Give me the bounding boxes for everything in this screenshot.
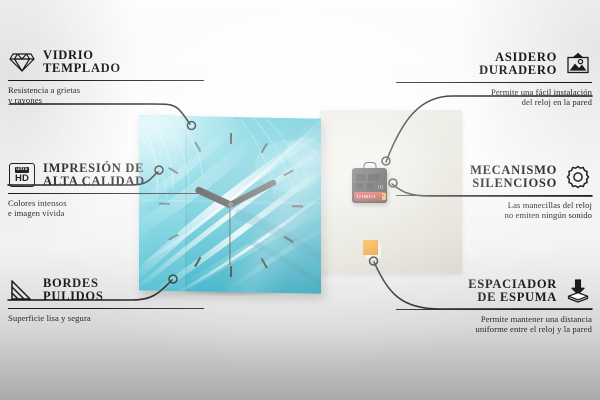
divider <box>396 195 592 196</box>
feature-description: Las manecillas del reloj no emiten ningú… <box>396 200 592 221</box>
feature-title: VIDRIO TEMPLADO <box>43 49 121 76</box>
feature-espaciador-de-espuma: ESPACIADOR DE ESPUMA Permite mantener un… <box>396 277 592 335</box>
ultra-hd-icon: ultra HD <box>8 161 36 189</box>
connector-endpoint-dot <box>370 257 378 265</box>
divider <box>396 309 592 310</box>
connector-vidrio-templado <box>10 104 190 124</box>
arrow-down-pad-icon <box>564 277 592 305</box>
feature-impresion-alta-calidad: ultra HD IMPRESIÓN DE ALTA CALIDAD Color… <box>8 161 204 219</box>
feature-vidrio-templado: VIDRIO TEMPLADO Resistencia a grietas y … <box>8 48 204 106</box>
feature-title: MECANISMO SILENCIOSO <box>470 164 557 191</box>
divider <box>8 193 204 194</box>
polished-edges-icon <box>8 276 36 304</box>
divider <box>8 308 204 309</box>
connector-endpoint-dot <box>188 122 196 130</box>
divider <box>396 82 592 83</box>
feature-description: Permite mantener una distancia uniforme … <box>396 314 592 335</box>
feature-title: BORDES PULIDOS <box>43 277 103 304</box>
gear-icon <box>564 163 592 191</box>
infographic-canvas: + <box>0 0 600 400</box>
ultra-hd-icon-large-label: HD <box>15 174 29 184</box>
diamond-icon <box>8 48 36 76</box>
feature-description: Resistencia a grietas y rayones <box>8 85 204 106</box>
picture-frame-hanger-icon <box>564 50 592 78</box>
ultra-hd-icon-small-label: ultra <box>15 167 30 173</box>
feature-asidero-duradero: ASIDERO DURADERO Permite una fácil insta… <box>396 50 592 108</box>
feature-description: Colores intensos e imagen vívida <box>8 198 204 219</box>
feature-title: ESPACIADOR DE ESPUMA <box>468 278 557 305</box>
feature-mecanismo-silencioso: MECANISMO SILENCIOSO Las manecillas del … <box>396 163 592 221</box>
feature-description: Permite una fácil instalación del reloj … <box>396 87 592 108</box>
divider <box>8 80 204 81</box>
feature-bordes-pulidos: BORDES PULIDOS Superficie lisa y segura <box>8 276 204 323</box>
feature-title: ASIDERO DURADERO <box>479 51 557 78</box>
feature-title: IMPRESIÓN DE ALTA CALIDAD <box>43 162 145 189</box>
feature-description: Superficie lisa y segura <box>8 313 204 323</box>
